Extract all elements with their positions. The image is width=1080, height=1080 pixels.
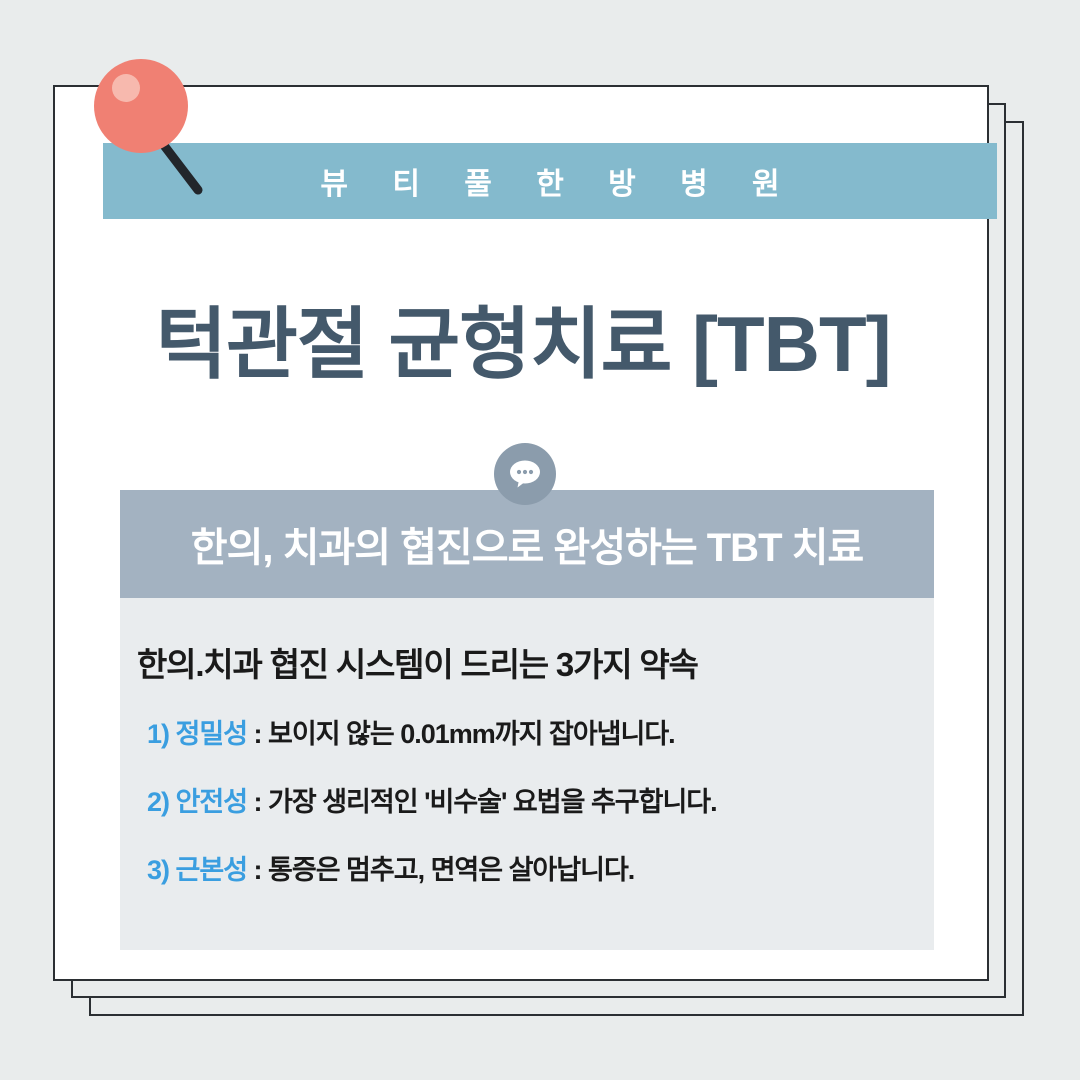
promise-text: : 보이지 않는 0.01mm까지 잡아냅니다. — [247, 719, 675, 749]
content-panel: 한의.치과 협진 시스템이 드리는 3가지 약속 1) 정밀성 : 보이지 않는… — [120, 598, 934, 950]
promise-key: 1) 정밀성 — [147, 719, 247, 749]
promise-list: 1) 정밀성 : 보이지 않는 0.01mm까지 잡아냅니다. 2) 안전성 :… — [137, 712, 934, 887]
promise-key: 2) 안전성 — [147, 787, 247, 817]
promise-text: : 가장 생리적인 '비수술' 요법을 추구합니다. — [247, 787, 717, 817]
subtitle-band: 한의, 치과의 협진으로 완성하는 TBT 치료 — [120, 490, 934, 598]
poster-canvas: 뷰 티 풀 한 방 병 원 턱관절 균형치료 [TBT] 한의, 치과의 협진으… — [0, 0, 1080, 1080]
content-heading: 한의.치과 협진 시스템이 드리는 3가지 약속 — [137, 638, 934, 686]
list-item: 1) 정밀성 : 보이지 않는 0.01mm까지 잡아냅니다. — [137, 712, 934, 751]
main-card: 뷰 티 풀 한 방 병 원 턱관절 균형치료 [TBT] 한의, 치과의 협진으… — [53, 85, 989, 981]
speech-bubble-icon — [494, 443, 556, 505]
promise-key: 3) 근본성 — [147, 855, 247, 885]
subtitle-text: 한의, 치과의 협진으로 완성하는 TBT 치료 — [191, 515, 863, 573]
page-title: 턱관절 균형치료 [TBT] — [55, 282, 991, 394]
pushpin-icon — [88, 53, 238, 203]
clinic-name-text: 뷰 티 풀 한 방 병 원 — [302, 159, 797, 203]
promise-text: : 통증은 멈추고, 면역은 살아납니다. — [247, 855, 634, 885]
list-item: 2) 안전성 : 가장 생리적인 '비수술' 요법을 추구합니다. — [137, 780, 934, 819]
list-item: 3) 근본성 : 통증은 멈추고, 면역은 살아납니다. — [137, 848, 934, 887]
